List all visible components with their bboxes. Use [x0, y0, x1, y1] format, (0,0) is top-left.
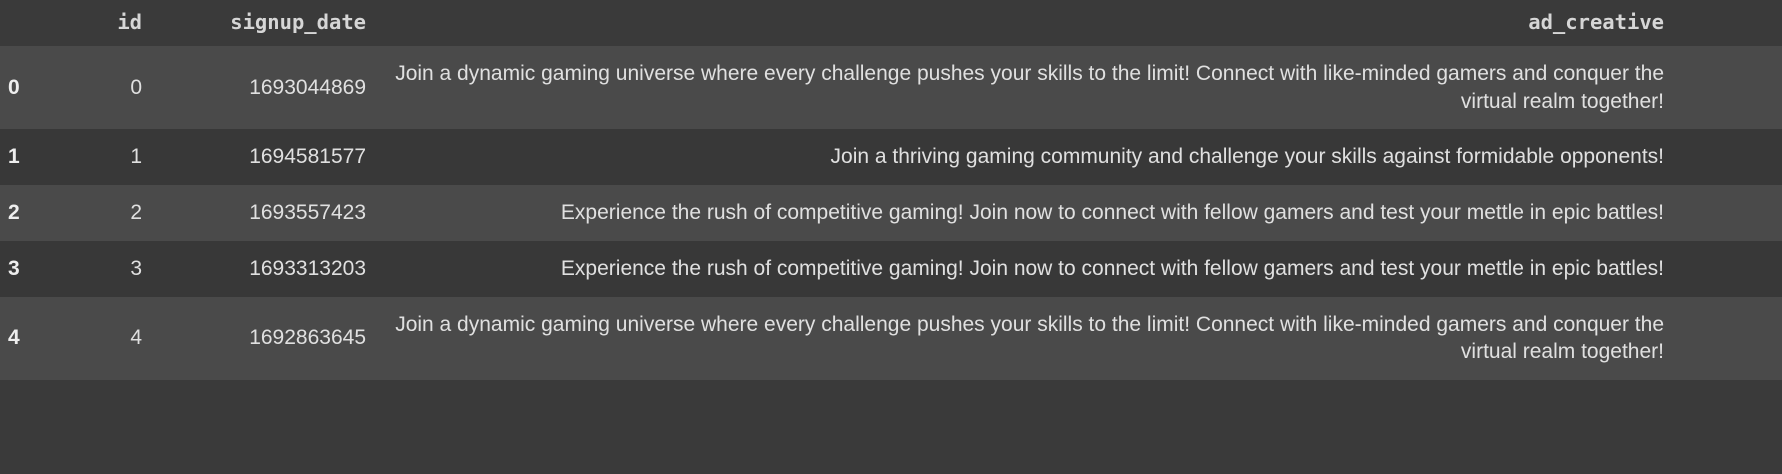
table-row[interactable]: 0 0 1693044869 Join a dynamic gaming uni… — [0, 46, 1782, 129]
cell-id: 0 — [72, 46, 156, 129]
cell-activity: 0.01 — [1678, 185, 1782, 241]
cell-ad-creative: Experience the rush of competitive gamin… — [380, 241, 1678, 297]
table-row[interactable]: 2 2 1693557423 Experience the rush of co… — [0, 185, 1782, 241]
row-index-cell: 0 — [0, 46, 72, 129]
column-header-index[interactable] — [0, 4, 72, 46]
dataframe-table: id signup_date ad_creative activity 0 0 … — [0, 4, 1782, 380]
cell-ad-creative: Join a dynamic gaming universe where eve… — [380, 46, 1678, 129]
cell-id: 4 — [72, 297, 156, 380]
row-index-cell: 4 — [0, 297, 72, 380]
row-index-cell: 3 — [0, 241, 72, 297]
bottom-spacer — [0, 380, 1782, 406]
cell-ad-creative: Join a thriving gaming community and cha… — [380, 129, 1678, 185]
cell-signup-date: 1693044869 — [156, 46, 380, 129]
cell-id: 2 — [72, 185, 156, 241]
dataframe-output: id signup_date ad_creative activity 0 0 … — [0, 0, 1782, 474]
column-header-ad-creative[interactable]: ad_creative — [380, 4, 1678, 46]
table-row[interactable]: 1 1 1694581577 Join a thriving gaming co… — [0, 129, 1782, 185]
column-header-id[interactable]: id — [72, 4, 156, 46]
header-row: id signup_date ad_creative activity — [0, 4, 1782, 46]
table-row[interactable]: 4 4 1692863645 Join a dynamic gaming uni… — [0, 297, 1782, 380]
row-index-cell: 2 — [0, 185, 72, 241]
table-header: id signup_date ad_creative activity — [0, 4, 1782, 46]
cell-activity: 0.30 — [1678, 46, 1782, 129]
cell-ad-creative: Experience the rush of competitive gamin… — [380, 185, 1678, 241]
cell-signup-date: 1693557423 — [156, 185, 380, 241]
column-header-signup-date[interactable]: signup_date — [156, 4, 380, 46]
cell-activity: 0.12 — [1678, 297, 1782, 380]
cell-ad-creative: Join a dynamic gaming universe where eve… — [380, 297, 1678, 380]
cell-activity: 0.30 — [1678, 241, 1782, 297]
cell-signup-date: 1693313203 — [156, 241, 380, 297]
cell-signup-date: 1692863645 — [156, 297, 380, 380]
table-body: 0 0 1693044869 Join a dynamic gaming uni… — [0, 46, 1782, 380]
row-index-cell: 1 — [0, 129, 72, 185]
cell-id: 1 — [72, 129, 156, 185]
cell-id: 3 — [72, 241, 156, 297]
cell-signup-date: 1694581577 — [156, 129, 380, 185]
column-header-activity[interactable]: activity — [1678, 4, 1782, 46]
table-row[interactable]: 3 3 1693313203 Experience the rush of co… — [0, 241, 1782, 297]
cell-activity: 1.14 — [1678, 129, 1782, 185]
